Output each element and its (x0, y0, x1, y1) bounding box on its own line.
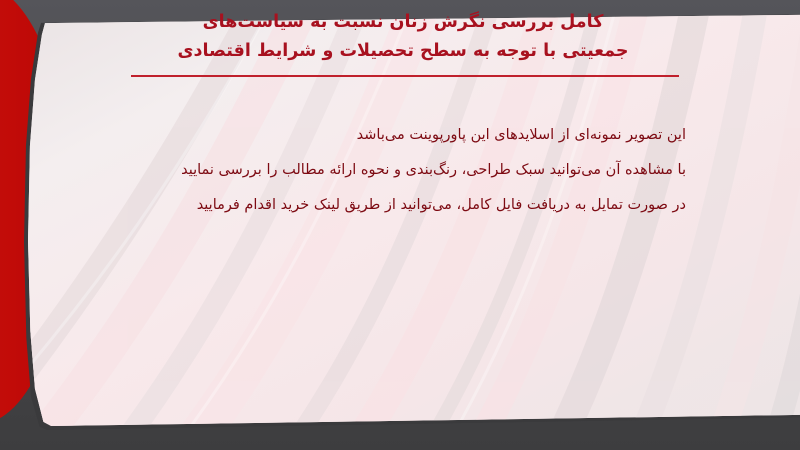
slide-title: کامل بررسی نگرش زنان نسبت به سیاست‌های ج… (120, 8, 686, 66)
slide-body: این تصویر نمونه‌ای از اسلایدهای این پاور… (120, 118, 686, 223)
slide-body-line-3: در صورت تمایل به دریافت فایل کامل، می‌تو… (120, 188, 686, 223)
slide-title-line-2: جمعیتی با توجه به سطح تحصیلات و شرایط اق… (120, 37, 686, 66)
slide-title-line-1: کامل بررسی نگرش زنان نسبت به سیاست‌های (120, 8, 686, 37)
slide-body-line-2: با مشاهده آن می‌توانید سبک طراحی، رنگ‌بن… (120, 153, 686, 188)
title-underline-rule (131, 75, 679, 77)
slide-body-line-1: این تصویر نمونه‌ای از اسلایدهای این پاور… (120, 118, 686, 153)
slide-canvas: کامل بررسی نگرش زنان نسبت به سیاست‌های ج… (0, 0, 800, 450)
